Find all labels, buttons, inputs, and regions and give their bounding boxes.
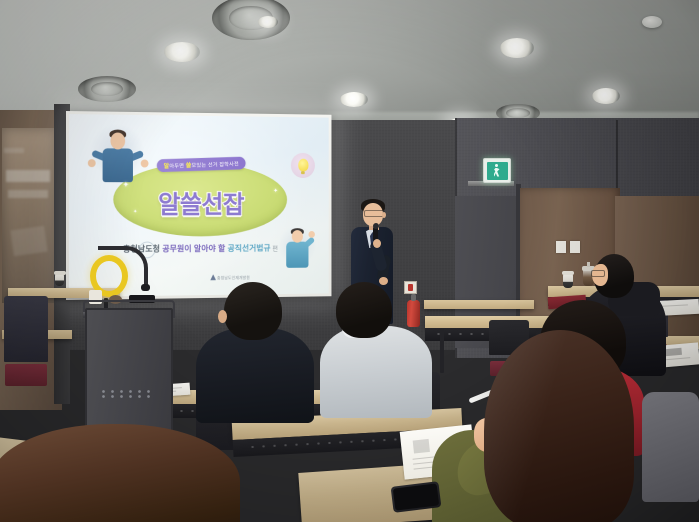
wall-notice <box>556 241 566 253</box>
chair <box>4 296 48 406</box>
subtitle-highlight: 공무원이 알아야 할 <box>162 244 227 253</box>
attendee-navy-jacket <box>196 282 314 417</box>
ceiling-downlight <box>592 88 620 104</box>
slide-subtitle: 충청남도청 공무원이 알아야 할 공직선거법규 편 <box>123 242 278 255</box>
ceiling-downlight <box>164 42 200 62</box>
ceiling <box>0 0 699 128</box>
lightbulb-icon <box>291 152 315 177</box>
ceiling-downlight <box>500 38 534 58</box>
subtitle-highlight-2: 공직선거법규 <box>228 244 271 253</box>
lecture-room-photo: 알아두면 쓸모있는 선거 잡학사전 ✦ ✦ ✦ 알쓸선잡 충청남도청 공무원이 … <box>0 0 699 522</box>
attendee-olive-sweater <box>432 330 672 522</box>
sparkle-icon: ✦ <box>123 180 130 189</box>
coffee-cup <box>55 274 64 286</box>
tagline-part-2: 모있는 선거 잡학사전 <box>191 162 239 169</box>
ceiling-downlight <box>340 92 368 107</box>
emergency-exit-icon <box>483 158 511 183</box>
left-glass-panel <box>2 128 56 303</box>
slide-title: 알쓸선잡 <box>158 186 244 222</box>
coffee-cup <box>563 274 573 288</box>
slide-logo: 충청남도인재개발원 <box>217 275 250 281</box>
slide-character-left <box>88 123 149 195</box>
presenter-podium <box>79 290 175 445</box>
wall-notice <box>570 241 580 253</box>
sparkle-icon: ✦ <box>273 188 278 195</box>
glasses-icon <box>591 270 605 277</box>
ceiling-vent <box>78 76 136 102</box>
subtitle-tail: 편 <box>271 246 278 253</box>
ceiling-downlight <box>258 16 278 28</box>
attendee-white-shirt <box>320 282 432 414</box>
gooseneck-lamp <box>98 246 148 290</box>
desk <box>424 300 534 309</box>
sparkle-icon: ✦ <box>133 209 137 215</box>
tagline-part-1: 아두면 <box>169 163 186 169</box>
attendee-brown-hair <box>0 424 240 522</box>
slide-character-right <box>278 223 319 277</box>
smoke-detector-icon <box>642 16 662 28</box>
